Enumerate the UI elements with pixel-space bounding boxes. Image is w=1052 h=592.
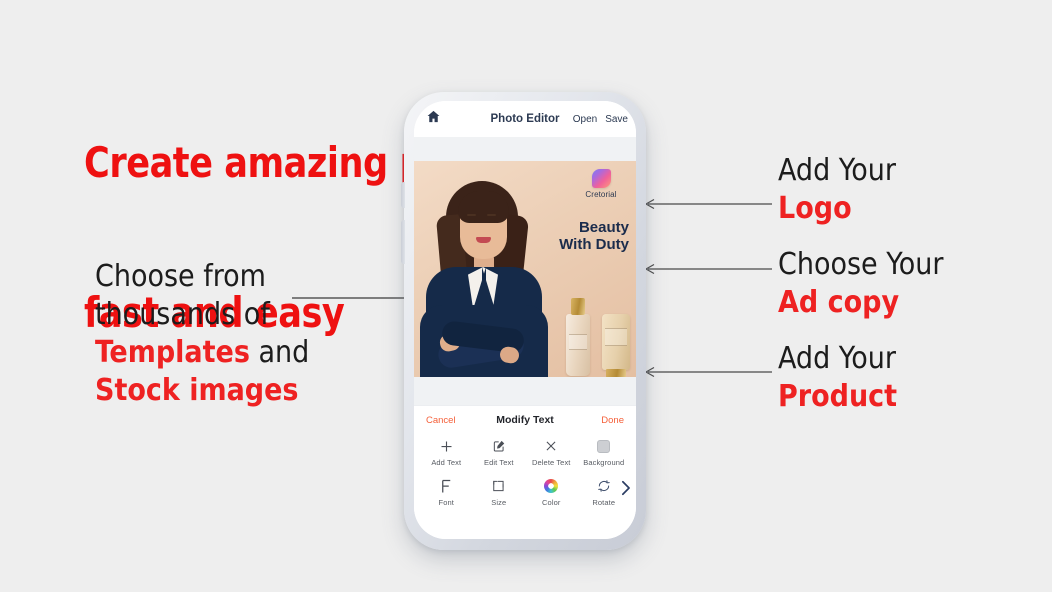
- templates-callout-line-1: Choose from: [95, 258, 309, 296]
- ad-copy-callout-line-1: Choose Your: [778, 246, 943, 284]
- add-text-button[interactable]: Add Text: [420, 437, 473, 467]
- editor-canvas[interactable]: Cretorial Beauty With Duty: [414, 161, 636, 377]
- color-label: Color: [525, 498, 578, 507]
- editor-toolbar: Cancel Modify Text Done Add Text: [414, 405, 636, 539]
- font-button[interactable]: Font: [420, 477, 473, 507]
- model-eye-right: [489, 220, 495, 223]
- templates-callout-line-3: Templates and: [95, 334, 309, 372]
- resize-square-icon: [473, 477, 526, 495]
- logo-callout: Add Your Logo: [778, 152, 896, 228]
- close-x-icon: [525, 437, 578, 455]
- ad-copy-callout: Choose Your Ad copy: [778, 246, 943, 322]
- open-button[interactable]: Open: [573, 114, 597, 125]
- logo-callout-line-1: Add Your: [778, 152, 896, 190]
- phone-volume-down-button[interactable]: [401, 220, 405, 264]
- model-image[interactable]: [420, 171, 546, 377]
- toolbar-row-2: Font Size Color: [420, 477, 630, 507]
- topbar-actions: Open Save: [573, 114, 628, 125]
- product-foundation-bottle: [566, 314, 590, 376]
- cretorial-logo-icon: [592, 169, 611, 188]
- phone-screen: Photo Editor Open Save: [414, 101, 636, 539]
- logo-brand-name: Cretorial: [575, 190, 627, 199]
- edit-pencil-icon: [473, 437, 526, 455]
- delete-text-button[interactable]: Delete Text: [525, 437, 578, 467]
- home-icon[interactable]: [426, 109, 441, 129]
- background-label: Background: [578, 458, 631, 467]
- model-hairline: [458, 191, 509, 223]
- color-button[interactable]: Color: [525, 477, 578, 507]
- background-button[interactable]: Background: [578, 437, 631, 467]
- color-wheel-icon: [525, 477, 578, 495]
- model-eye-left: [469, 220, 475, 223]
- bottle-cap: [571, 298, 585, 315]
- stock-images-keyword: Stock images: [95, 372, 309, 410]
- size-label: Size: [473, 498, 526, 507]
- tube-cap: [606, 369, 626, 377]
- canvas-logo[interactable]: Cretorial: [575, 169, 627, 199]
- templates-keyword: Templates: [95, 335, 250, 370]
- model-mouth: [476, 237, 491, 243]
- templates-callout-line-2: thousands of: [95, 296, 309, 334]
- canvas-ad-copy[interactable]: Beauty With Duty: [559, 219, 629, 253]
- font-f-icon: [420, 477, 473, 495]
- phone-volume-up-button[interactable]: [401, 182, 405, 208]
- arrow-to-product: [634, 366, 774, 378]
- chevron-right-icon[interactable]: [620, 480, 631, 501]
- app-topbar: Photo Editor Open Save: [414, 101, 636, 137]
- ad-copy-line-2: With Duty: [559, 236, 629, 253]
- model-brow-right: [487, 214, 496, 216]
- phone-mockup: Photo Editor Open Save: [404, 92, 646, 550]
- templates-callout-and: and: [250, 335, 309, 370]
- font-label: Font: [420, 498, 473, 507]
- tube-label: [605, 328, 627, 346]
- product-keyword: Product: [778, 378, 897, 416]
- background-swatch-icon: [578, 437, 631, 455]
- canvas-products[interactable]: [564, 294, 630, 376]
- canvas-top-spacer: [414, 137, 636, 161]
- product-callout-line-1: Add Your: [778, 340, 897, 378]
- cancel-button[interactable]: Cancel: [426, 415, 456, 426]
- model-brow-left: [467, 214, 476, 216]
- add-text-label: Add Text: [420, 458, 473, 467]
- ad-copy-keyword: Ad copy: [778, 284, 943, 322]
- save-button[interactable]: Save: [605, 114, 628, 125]
- ad-copy-line-1: Beauty: [559, 219, 629, 236]
- canvas-bottom-spacer: [414, 377, 636, 405]
- toolbar-row-1: Add Text Edit Text: [420, 437, 630, 467]
- arrow-to-ad-copy: [634, 263, 774, 275]
- logo-keyword: Logo: [778, 190, 896, 228]
- product-foundation-tube: [602, 314, 630, 370]
- delete-text-label: Delete Text: [525, 458, 578, 467]
- size-button[interactable]: Size: [473, 477, 526, 507]
- plus-icon: [420, 437, 473, 455]
- toolbar-title: Modify Text: [496, 414, 554, 426]
- arrow-to-logo: [634, 198, 774, 210]
- edit-text-label: Edit Text: [473, 458, 526, 467]
- product-callout: Add Your Product: [778, 340, 897, 416]
- done-button[interactable]: Done: [594, 415, 624, 426]
- bottle-label: [569, 334, 587, 350]
- toolbar-header: Cancel Modify Text Done: [420, 414, 630, 426]
- templates-callout: Choose from thousands of Templates and S…: [95, 258, 309, 410]
- edit-text-button[interactable]: Edit Text: [473, 437, 526, 467]
